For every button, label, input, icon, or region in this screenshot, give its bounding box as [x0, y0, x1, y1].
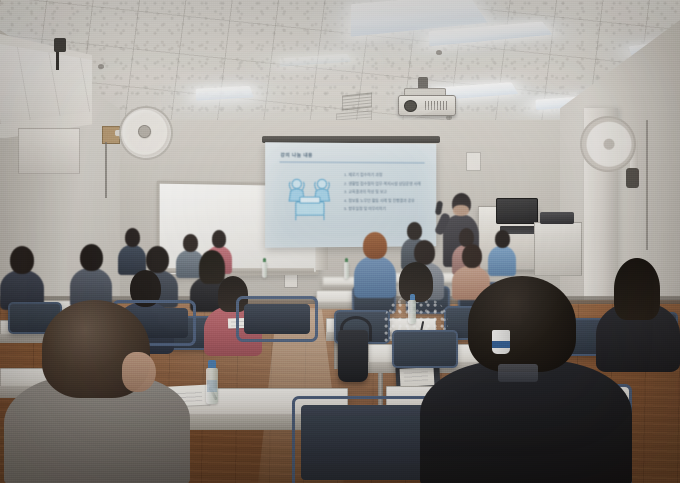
slide-title-rule: [279, 162, 424, 164]
lecture-room-photo: 교육 자 료 배 부 10:00 강의 나눔 내용: [0, 0, 680, 483]
attendee-back-3: [488, 230, 516, 274]
slide-illustration-icon: [284, 171, 336, 224]
fan-cord-right: [646, 120, 648, 250]
av-equipment: [540, 212, 574, 224]
slide-bullet-5: 5. 향후일정 및 마무리하기: [344, 205, 427, 214]
sprinkler-head-left: [98, 64, 104, 69]
iced-coffee-cup[interactable]: [492, 330, 510, 354]
slide-bullet-3: 3. 교육결과의 작성 및 보고: [344, 188, 427, 197]
speaker-mount-rod: [56, 52, 59, 70]
blind-valance: [18, 128, 80, 174]
slide-title: 강의 나눔 내용: [281, 152, 313, 158]
slide-bullet-4: 4. 정보통 노무인 활동 사례 및 진행결과 공유: [344, 197, 427, 206]
sprinkler-head-right: [436, 50, 442, 55]
fan-motor-right: [626, 168, 639, 188]
slide-bullet-1: 1. 제로기 접수하기 과정: [344, 171, 427, 180]
backpack[interactable]: [338, 330, 368, 382]
wall-plate-right[interactable]: [466, 152, 481, 171]
fan-cord-left: [105, 142, 107, 198]
slide-bullet-list: 1. 제로기 접수하기 과정 2. 생활법 접수절차 업무·복지시설 상담운영 …: [344, 171, 427, 214]
side-cabinet: [534, 222, 582, 276]
chair[interactable]: [236, 296, 318, 342]
slide-bullet-2: 2. 생활법 접수절차 업무·복지시설 상담운영 사례: [344, 180, 427, 189]
attendee-row2-left: [70, 244, 112, 304]
fan-hub-left: [138, 125, 151, 138]
attendee-front-right-black: [420, 276, 632, 483]
attendee-row2-farleft: [0, 246, 44, 306]
water-bottle[interactable]: [344, 262, 349, 279]
water-bottle[interactable]: [206, 368, 218, 404]
ceiling-speaker-icon: [54, 38, 66, 52]
projector-lens-icon: [404, 100, 417, 112]
attendee-front-left-gray: [4, 300, 190, 483]
water-bottle[interactable]: [262, 262, 267, 278]
water-bottle[interactable]: [408, 300, 416, 324]
air-vent-center: [342, 92, 372, 110]
podium-monitor: [496, 198, 538, 224]
